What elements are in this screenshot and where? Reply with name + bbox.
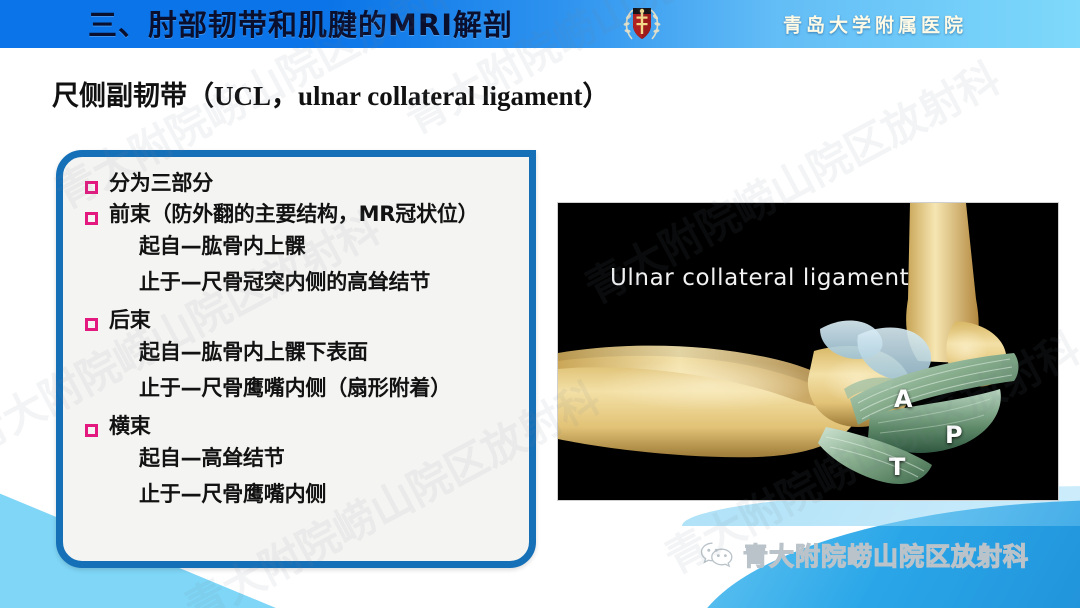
bullet-label: 前束（防外翻的主要结构，MR冠状位）	[109, 202, 478, 225]
footer-credit: 青大附院崂山院区放射科	[700, 537, 1029, 573]
sub-item: 止于—尺骨鹰嘴内侧	[139, 478, 519, 508]
sub-item: 止于—尺骨冠突内侧的高耸结节	[139, 266, 519, 296]
sub-item: 起自—高耸结节	[139, 442, 519, 472]
bullet-item: 后束	[77, 308, 519, 331]
presentation-slide: 三、肘部韧带和肌腱的MRI解剖	[0, 0, 1080, 608]
sub-item: 止于—尺骨鹰嘴内侧（扇形附着）	[139, 372, 519, 402]
square-bullet-icon	[85, 181, 98, 194]
bullet-label: 横束	[109, 414, 151, 437]
hospital-crest-icon	[620, 3, 664, 45]
sub-item: 起自—肱骨内上髁下表面	[139, 336, 519, 366]
figure-label-transverse: T	[889, 453, 905, 481]
bullet-item: 前束（防外翻的主要结构，MR冠状位）	[77, 202, 519, 225]
figure-label-anterior: A	[894, 385, 913, 413]
figure-label-posterior: P	[945, 421, 963, 449]
bullet-item: 分为三部分	[77, 171, 519, 194]
sub-item: 起自—肱骨内上髁	[139, 230, 519, 260]
square-bullet-icon	[85, 318, 98, 331]
slide-header-band: 三、肘部韧带和肌腱的MRI解剖	[0, 0, 1080, 48]
figure-caption: Ulnar collateral ligament	[610, 265, 909, 291]
footer-text: 青大附院崂山院区放射科	[743, 537, 1029, 573]
content-panel: 分为三部分 前束（防外翻的主要结构，MR冠状位） 起自—肱骨内上髁 止于—尺骨冠…	[56, 150, 536, 568]
elbow-ligament-illustration	[558, 203, 1058, 500]
anatomy-figure: Ulnar collateral ligament A P T	[558, 203, 1058, 500]
square-bullet-icon	[85, 212, 98, 225]
bullet-label: 分为三部分	[109, 171, 213, 194]
bullet-label: 后束	[109, 308, 151, 331]
square-bullet-icon	[85, 424, 98, 437]
wechat-icon	[700, 541, 734, 569]
slide-title: 三、肘部韧带和肌腱的MRI解剖	[88, 2, 513, 44]
section-subtitle: 尺侧副韧带（UCL，ulnar collateral ligament）	[52, 74, 609, 113]
hospital-name: 青岛大学附属医院	[783, 11, 967, 38]
bullet-item: 横束	[77, 414, 519, 437]
